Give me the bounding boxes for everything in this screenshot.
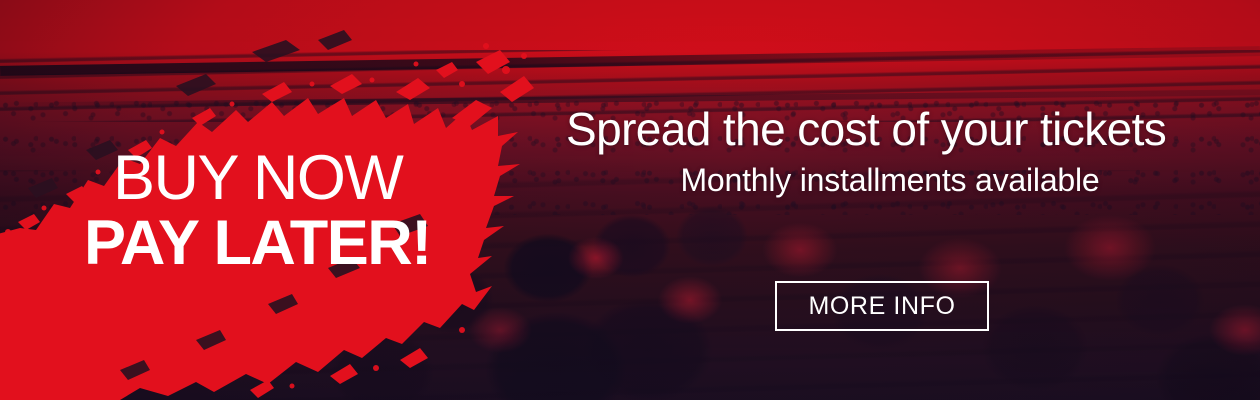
promo-line-buy-now: BUY NOW [113,147,402,210]
more-info-button[interactable]: MORE INFO [775,281,989,331]
promo-line-pay-later: PAY LATER! [84,212,431,275]
headline-text: Spread the cost of your tickets [566,106,1214,152]
subheadline-text: Monthly installments available [566,164,1214,196]
promotional-banner: BUY NOW PAY LATER! Spread the cost of yo… [0,0,1260,400]
promo-text-block: BUY NOW PAY LATER! [0,0,440,400]
